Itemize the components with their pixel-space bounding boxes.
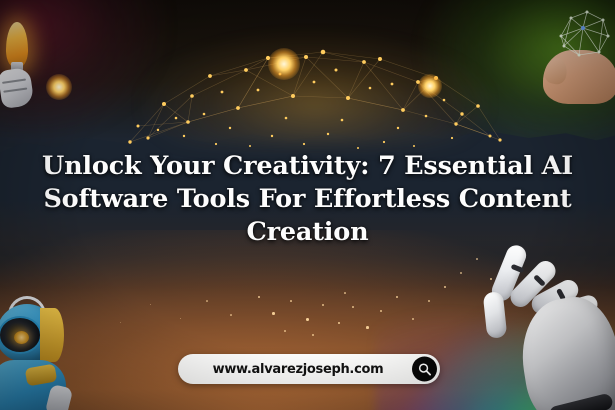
robot-eye: [14, 331, 29, 344]
featured-image-canvas: Unlock Your Creativity: 7 Essential AI S…: [0, 0, 615, 410]
network-mesh-dome: [118, 26, 508, 154]
glowing-light-bulb: [0, 14, 40, 106]
robot-visor: [0, 316, 42, 354]
robot-hand-holding-bulb: [0, 67, 34, 109]
title-line-3: Creation: [18, 216, 597, 249]
magnifier-icon: [417, 362, 432, 377]
url-search-bar[interactable]: www.alvarezjoseph.com: [178, 354, 440, 384]
title-line-2: Software Tools For Effortless Content: [18, 183, 597, 216]
robot-head: [0, 304, 58, 362]
page-title: Unlock Your Creativity: 7 Essential AI S…: [18, 150, 597, 249]
brain-wireframe: [553, 6, 613, 60]
robot-head-band: [40, 308, 64, 362]
wireframe-brain-sphere: [517, 2, 615, 98]
blue-robot: [0, 294, 84, 410]
search-button[interactable]: [412, 357, 437, 382]
robot-palm: [514, 291, 615, 410]
white-robotic-hand: [471, 240, 615, 410]
website-url: www.alvarezjoseph.com: [213, 362, 384, 377]
title-line-1: Unlock Your Creativity: 7 Essential AI: [18, 150, 597, 183]
